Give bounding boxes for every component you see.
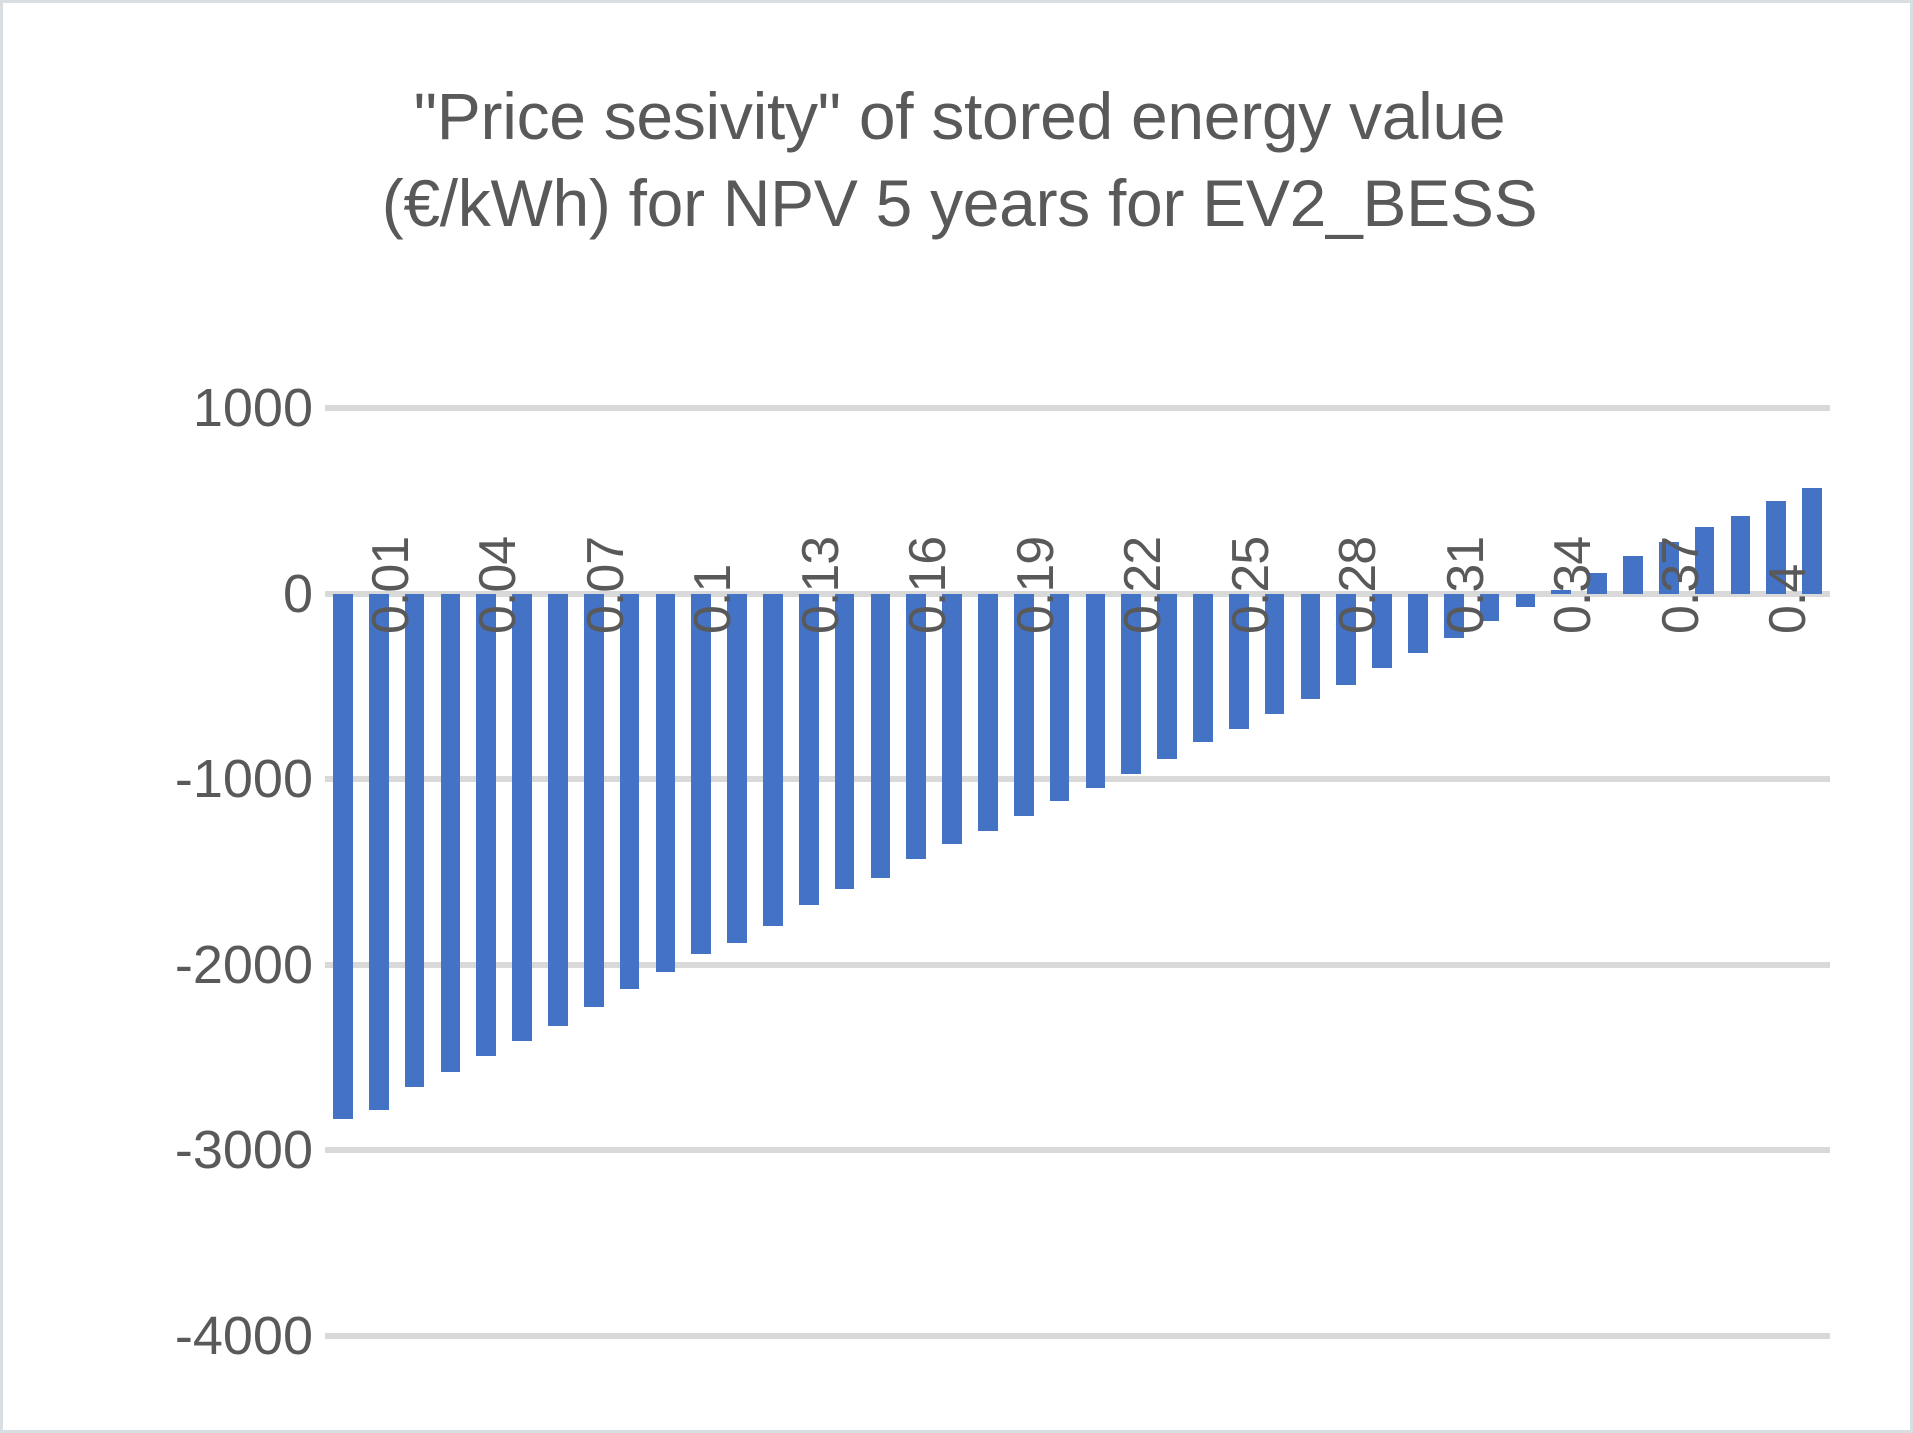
bar [799, 594, 819, 906]
bar [1014, 594, 1034, 817]
bar [1659, 542, 1679, 594]
bar [727, 594, 747, 943]
bar [1623, 556, 1643, 593]
bar [1157, 594, 1177, 759]
bar [1408, 594, 1428, 653]
bar [1802, 488, 1822, 594]
bar [1731, 516, 1751, 594]
y-tick-label: -3000 [175, 1119, 313, 1181]
bar [691, 594, 711, 954]
bar [1336, 594, 1356, 685]
bar [1229, 594, 1249, 729]
bar [476, 594, 496, 1056]
bar [1086, 594, 1106, 789]
bar [942, 594, 962, 845]
chart-container: "Price sesivity" of stored energy value … [0, 0, 1913, 1433]
bar [656, 594, 676, 973]
bar [1695, 527, 1715, 594]
bar [1265, 594, 1285, 715]
y-tick-label: -4000 [175, 1305, 313, 1367]
bar [978, 594, 998, 832]
bar [835, 594, 855, 889]
bar [1587, 573, 1607, 593]
bar [1480, 594, 1500, 622]
bar [369, 594, 389, 1110]
bar-series [325, 408, 1830, 1336]
bar [1121, 594, 1141, 774]
y-tick-label: 1000 [193, 377, 313, 439]
bar [584, 594, 604, 1008]
bar [763, 594, 783, 926]
chart-title: "Price sesivity" of stored energy value … [3, 73, 1913, 247]
bar [1516, 594, 1536, 607]
bar [405, 594, 425, 1088]
bar [512, 594, 532, 1041]
y-tick-label: -2000 [175, 934, 313, 996]
bar [333, 594, 353, 1119]
y-tick-label: -1000 [175, 748, 313, 810]
bar [548, 594, 568, 1026]
bar [1372, 594, 1392, 668]
bar [1301, 594, 1321, 700]
bar [620, 594, 640, 989]
bar [1444, 594, 1464, 639]
bar [871, 594, 891, 878]
y-axis: 10000-1000-2000-3000-4000 [63, 408, 313, 1336]
bar [1050, 594, 1070, 802]
y-tick-label: 0 [283, 563, 313, 625]
bar [1766, 501, 1786, 594]
bar [906, 594, 926, 859]
bar [1193, 594, 1213, 742]
bar [441, 594, 461, 1073]
bar [1551, 590, 1571, 594]
plot-area [325, 408, 1830, 1336]
